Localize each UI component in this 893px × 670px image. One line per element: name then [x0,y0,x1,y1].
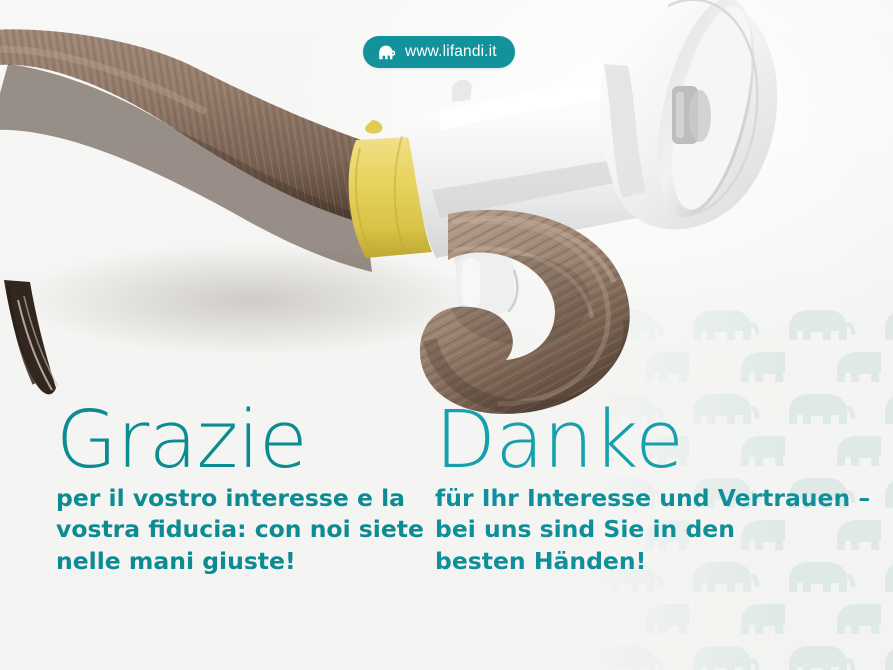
website-url-text: www.lifandi.it [405,43,497,61]
poster-canvas: www.lifandi.it Grazie per il vostro inte… [0,0,893,670]
body-line: bei uns sind Sie in den [435,514,855,545]
body-line: per il vostro interesse e la [56,483,426,514]
website-url-badge[interactable]: www.lifandi.it [363,36,515,68]
elephant-icon [377,44,396,60]
body-copy-german: für Ihr Interesse und Vertrauen – bei un… [435,483,855,577]
headline-danke: Danke [435,404,855,477]
body-copy-italian: per il vostro interesse e la vostra fidu… [56,483,426,577]
body-line: besten Händen! [435,546,855,577]
headline-grazie: Grazie [56,404,426,477]
body-line: für Ihr Interesse und Vertrauen – [435,483,855,514]
message-column-german: Danke für Ihr Interesse und Vertrauen – … [435,404,855,577]
body-line: nelle mani giuste! [56,546,426,577]
message-column-italian: Grazie per il vostro interesse e la vost… [56,404,426,577]
body-line: vostra fiducia: con noi siete [56,514,426,545]
